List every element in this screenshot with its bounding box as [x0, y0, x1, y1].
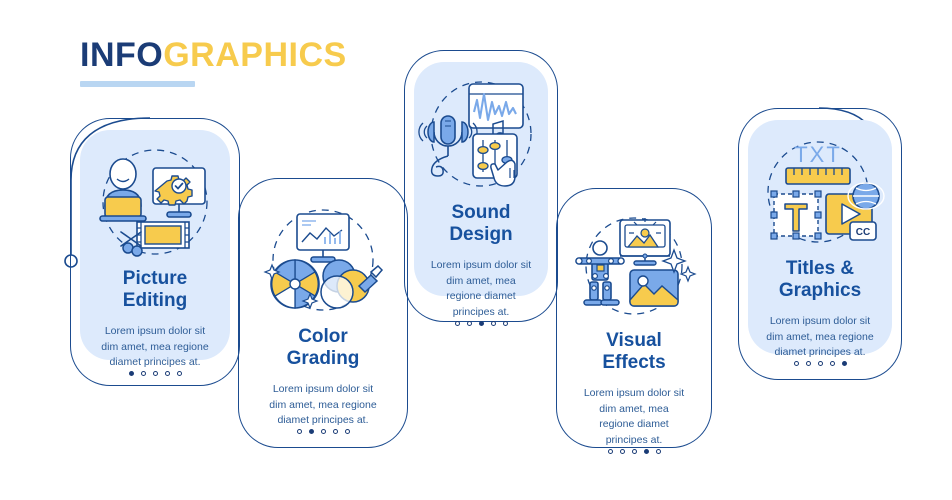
step-dot[interactable] [321, 429, 326, 434]
page-header: INFOGRAPHICS [80, 38, 347, 87]
step-dot[interactable] [297, 429, 302, 434]
step-indicator[interactable] [297, 429, 350, 434]
card-inner: SoundDesign Lorem ipsum dolor sit dim am… [414, 62, 548, 296]
step-dot[interactable] [503, 321, 508, 326]
step-dot[interactable] [345, 429, 350, 434]
step-indicator[interactable] [794, 361, 847, 366]
step-indicator[interactable] [455, 321, 508, 326]
sound-design-icon [406, 76, 556, 198]
svg-text:TXT: TXT [794, 142, 842, 167]
page-title-secondary: GRAPHICS [163, 36, 346, 74]
card-inner: VisualEffects Lorem ipsum dolor sit dim … [566, 200, 702, 422]
page-title-primary: INFO [80, 36, 163, 74]
card-title-line2: Editing [123, 290, 187, 311]
card-description: Lorem ipsum dolor sit dim amet, mea regi… [80, 324, 230, 371]
card-title: VisualEffects [596, 330, 671, 375]
picture-editing-icon [80, 144, 230, 264]
card-title: ColorGrading [281, 326, 366, 371]
step-dot[interactable] [491, 321, 496, 326]
step-dot[interactable] [644, 449, 649, 454]
card-title-line1: Color [298, 326, 348, 347]
step-dot[interactable] [141, 371, 146, 376]
card-inner: TXT [748, 120, 892, 354]
card-title-line2: Grading [287, 348, 360, 369]
card-title-line2: Design [449, 224, 512, 245]
card-title-line1: Titles & [786, 258, 854, 279]
card-visual-effects[interactable]: VisualEffects Lorem ipsum dolor sit dim … [556, 188, 712, 448]
step-dot[interactable] [608, 449, 613, 454]
card-titles-graphics[interactable]: TXT [738, 108, 902, 380]
step-dot[interactable] [129, 371, 134, 376]
card-title: SoundDesign [443, 202, 518, 247]
infographic-canvas: INFOGRAPHICS [0, 0, 952, 500]
step-dot[interactable] [806, 361, 811, 366]
card-description: Lorem ipsum dolor sit dim amet, mea regi… [248, 382, 398, 429]
step-dot[interactable] [479, 321, 484, 326]
step-dot[interactable] [632, 449, 637, 454]
card-description: Lorem ipsum dolor sit dim amet, mea regi… [566, 386, 702, 449]
step-dot[interactable] [818, 361, 823, 366]
card-title-line1: Visual [606, 330, 662, 351]
svg-text:CC: CC [856, 227, 870, 238]
step-dot[interactable] [333, 429, 338, 434]
step-dot[interactable] [830, 361, 835, 366]
step-dot[interactable] [656, 449, 661, 454]
step-indicator[interactable] [608, 449, 661, 454]
card-title: PictureEditing [117, 268, 193, 313]
step-dot[interactable] [165, 371, 170, 376]
card-title-line1: Sound [451, 202, 510, 223]
step-dot[interactable] [620, 449, 625, 454]
card-title-line2: Graphics [779, 280, 861, 301]
visual-effects-icon [559, 214, 709, 326]
step-dot[interactable] [467, 321, 472, 326]
page-title: INFOGRAPHICS [80, 38, 347, 72]
card-inner: PictureEditing Lorem ipsum dolor sit dim… [80, 130, 230, 360]
title-underline [80, 81, 195, 87]
card-title-line2: Effects [602, 352, 665, 373]
card-description: Lorem ipsum dolor sit dim amet, mea regi… [748, 314, 892, 361]
step-dot[interactable] [455, 321, 460, 326]
step-dot[interactable] [153, 371, 158, 376]
titles-graphics-icon: TXT [745, 134, 895, 254]
card-sound-design[interactable]: SoundDesign Lorem ipsum dolor sit dim am… [404, 50, 558, 322]
card-inner: ColorGrading Lorem ipsum dolor sit dim a… [248, 190, 398, 422]
step-dot[interactable] [842, 361, 847, 366]
color-grading-icon [248, 204, 398, 322]
step-dot[interactable] [309, 429, 314, 434]
card-color-grading[interactable]: ColorGrading Lorem ipsum dolor sit dim a… [238, 178, 408, 448]
step-indicator[interactable] [129, 371, 182, 376]
step-dot[interactable] [177, 371, 182, 376]
card-description: Lorem ipsum dolor sit dim amet, mea regi… [414, 258, 548, 321]
card-picture-editing[interactable]: PictureEditing Lorem ipsum dolor sit dim… [70, 118, 240, 386]
card-title: Titles &Graphics [773, 258, 867, 303]
card-title-line1: Picture [123, 268, 187, 289]
step-dot[interactable] [794, 361, 799, 366]
